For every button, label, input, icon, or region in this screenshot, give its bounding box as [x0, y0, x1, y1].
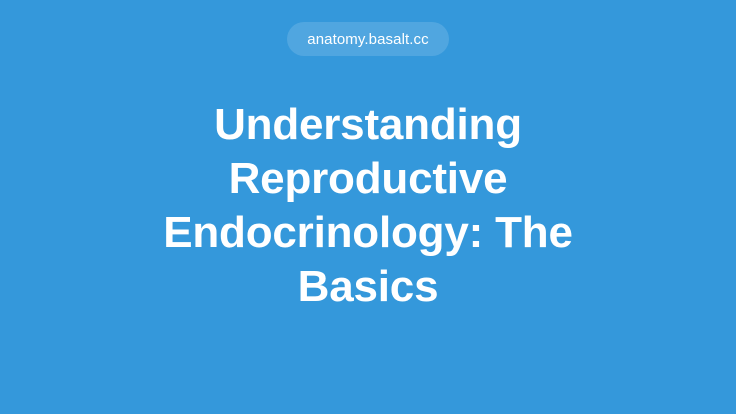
site-domain-badge[interactable]: anatomy.basalt.cc [287, 22, 448, 56]
page-title: Understanding Reproductive Endocrinology… [148, 98, 588, 314]
site-domain-label: anatomy.basalt.cc [307, 32, 428, 47]
hero-banner: anatomy.basalt.cc Understanding Reproduc… [0, 0, 736, 414]
